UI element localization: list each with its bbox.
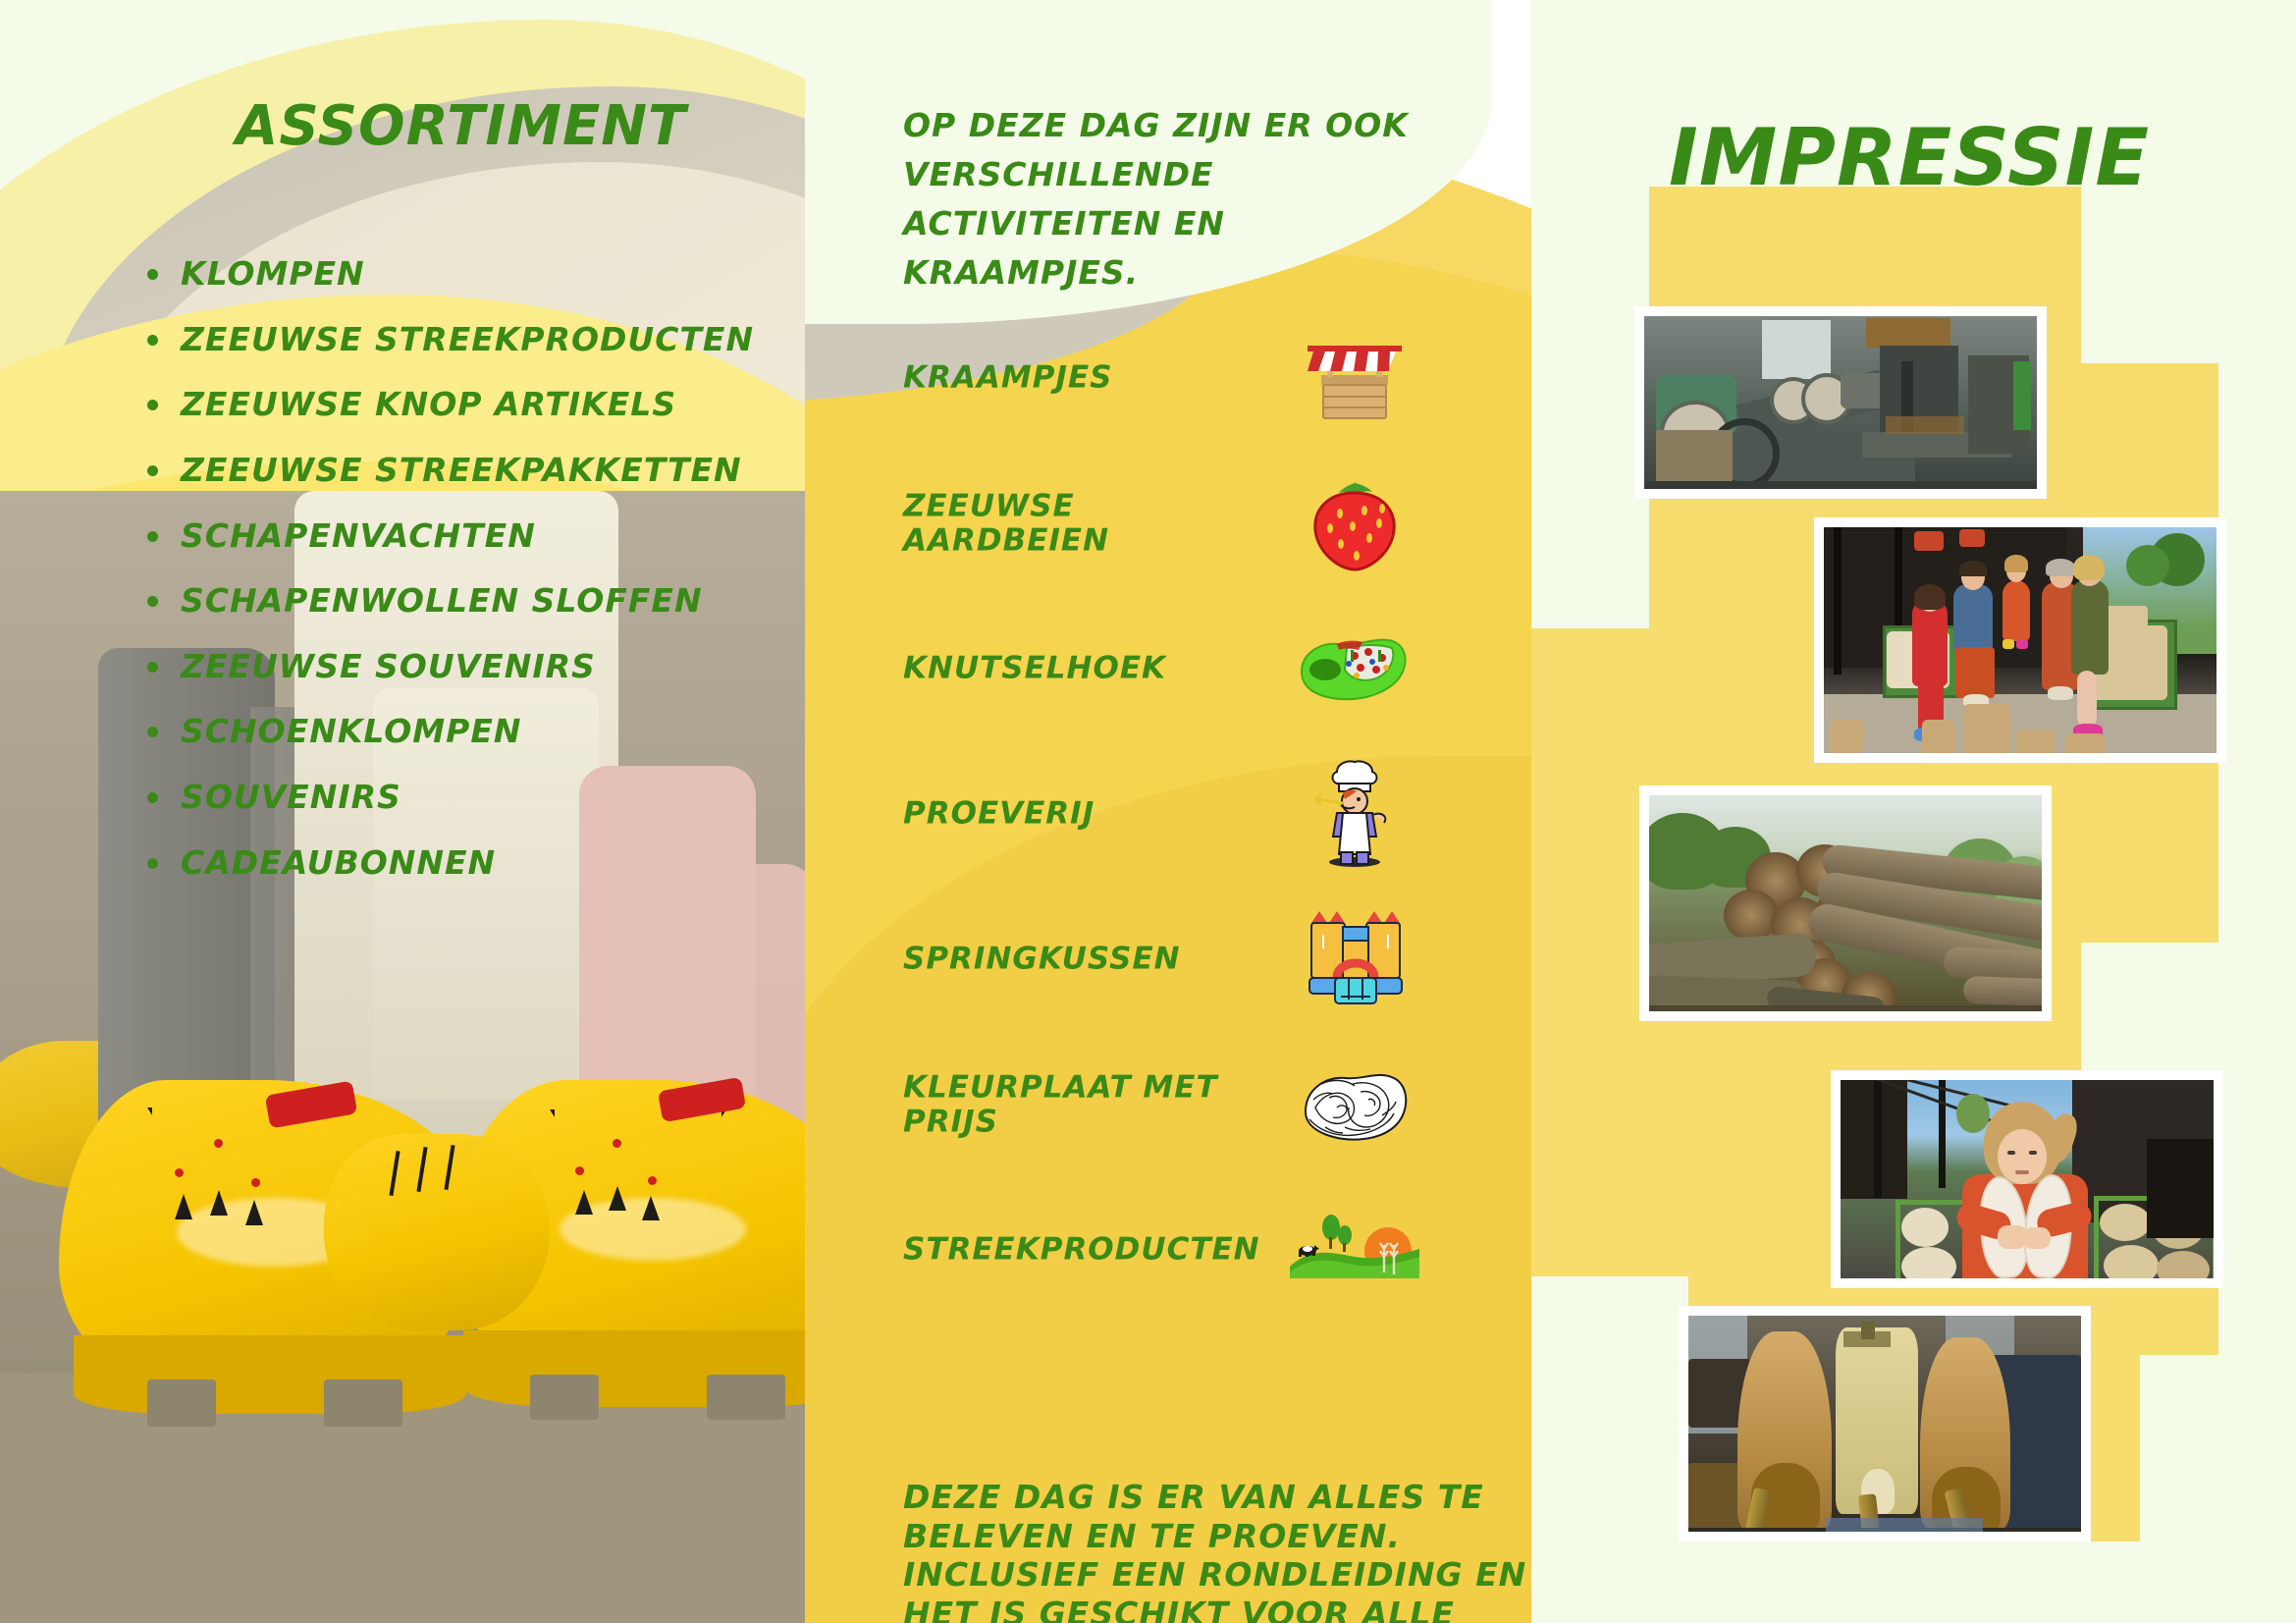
farm-landscape-icon — [1286, 1196, 1423, 1304]
activity-row: KNUTSELHOEK — [903, 615, 1492, 723]
list-item-label: SCHAPENVACHTEN — [181, 516, 536, 555]
bullet-dot-icon — [147, 792, 158, 803]
photo-clog-workshop-machinery — [1634, 306, 2047, 499]
bullet-dot-icon — [147, 596, 158, 607]
bullet-dot-icon — [147, 727, 158, 737]
list-item: KLOMPEN — [137, 257, 754, 292]
list-item: ZEEUWSE STREEKPAKKETTEN — [137, 454, 754, 488]
photo-stacked-tree-logs — [1639, 785, 2052, 1021]
activities-intro-text: OP DEZE DAG ZIJN ER OOK VERSCHILLENDE AC… — [903, 101, 1414, 298]
activity-label: ZEEUWSE AARDBEIEN — [903, 489, 1247, 557]
list-item: SOUVENIRS — [137, 781, 754, 815]
activity-label: KNUTSELHOEK — [903, 652, 1247, 686]
list-item: SCHOENKLOMPEN — [137, 715, 754, 749]
list-item-label: KLOMPEN — [181, 254, 365, 293]
bullet-dot-icon — [147, 858, 158, 869]
activity-row: PROEVERIJ — [903, 760, 1492, 868]
list-item-label: CADEAUBONNEN — [181, 843, 496, 882]
bouncy-castle-icon — [1286, 905, 1423, 1013]
left-panel: ASSORTIMENT KLOMPEN ZEEUWSE STREEKPRODUC… — [0, 0, 805, 1623]
impressie-title: IMPRESSIE — [1669, 112, 2150, 203]
list-item: ZEEUWSE KNOP ARTIKELS — [137, 388, 754, 422]
activity-label: SPRINGKUSSEN — [903, 943, 1247, 977]
list-item: ZEEUWSE SOUVENIRS — [137, 650, 754, 684]
activity-row: STREEKPRODUCTEN — [903, 1196, 1492, 1304]
list-item: CADEAUBONNEN — [137, 846, 754, 881]
photo-girl-holding-white-clogs — [1831, 1070, 2223, 1288]
assortiment-title: ASSORTIMENT — [236, 94, 686, 158]
bullet-dot-icon — [147, 335, 158, 346]
list-item: ZEEUWSE STREEKPRODUCTEN — [137, 323, 754, 357]
list-item-label: ZEEUWSE STREEKPRODUCTEN — [181, 320, 754, 358]
bullet-dot-icon — [147, 531, 158, 542]
activity-label: KLEURPLAAT MET PRIJS — [903, 1070, 1247, 1138]
painted-clogs-icon — [1286, 615, 1423, 723]
activities-list: KRAAMPJES ZEEU — [903, 324, 1492, 1341]
market-stall-icon — [1286, 324, 1423, 432]
bullet-dot-icon — [147, 465, 158, 476]
activities-outro-text: DEZE DAG IS ER VAN ALLES TE BELEVEN EN T… — [903, 1478, 1551, 1623]
brochure-page: ASSORTIMENT KLOMPEN ZEEUWSE STREEKPRODUC… — [0, 0, 2296, 1623]
activity-label: KRAAMPJES — [903, 361, 1247, 396]
decorative-notch — [1531, 1276, 1688, 1551]
list-item-label: SOUVENIRS — [181, 778, 401, 816]
list-item: SCHAPENWOLLEN SLOFFEN — [137, 584, 754, 619]
assortiment-list: KLOMPEN ZEEUWSE STREEKPRODUCTEN ZEEUWSE … — [137, 257, 754, 911]
chef-tasting-icon — [1286, 760, 1423, 868]
list-item-label: SCHAPENWOLLEN SLOFFEN — [181, 581, 703, 620]
bullet-dot-icon — [147, 400, 158, 410]
list-item-label: SCHOENKLOMPEN — [181, 712, 521, 750]
activity-row: KRAAMPJES — [903, 324, 1492, 432]
strawberry-icon — [1286, 469, 1423, 577]
decorative-notch — [2081, 187, 2296, 363]
activity-row: KLEURPLAAT MET PRIJS — [903, 1051, 1492, 1159]
activity-label: STREEKPRODUCTEN — [903, 1233, 1247, 1268]
photo-clogs-being-hollowed — [1679, 1306, 2091, 1542]
list-item: SCHAPENVACHTEN — [137, 519, 754, 554]
activity-row: ZEEUWSE AARDBEIEN — [903, 469, 1492, 577]
decorative-notch — [1531, 187, 1649, 628]
decorative-notch — [2140, 1355, 2296, 1623]
bullet-dot-icon — [147, 269, 158, 280]
photo-family-wearing-colored-clogs — [1814, 517, 2226, 763]
activity-row: SPRINGKUSSEN — [903, 905, 1492, 1013]
activity-label: PROEVERIJ — [903, 797, 1247, 832]
list-item-label: ZEEUWSE STREEKPAKKETTEN — [181, 451, 742, 489]
coloring-page-icon — [1286, 1051, 1423, 1159]
bullet-dot-icon — [147, 662, 158, 673]
list-item-label: ZEEUWSE SOUVENIRS — [181, 647, 596, 685]
list-item-label: ZEEUWSE KNOP ARTIKELS — [181, 385, 676, 423]
